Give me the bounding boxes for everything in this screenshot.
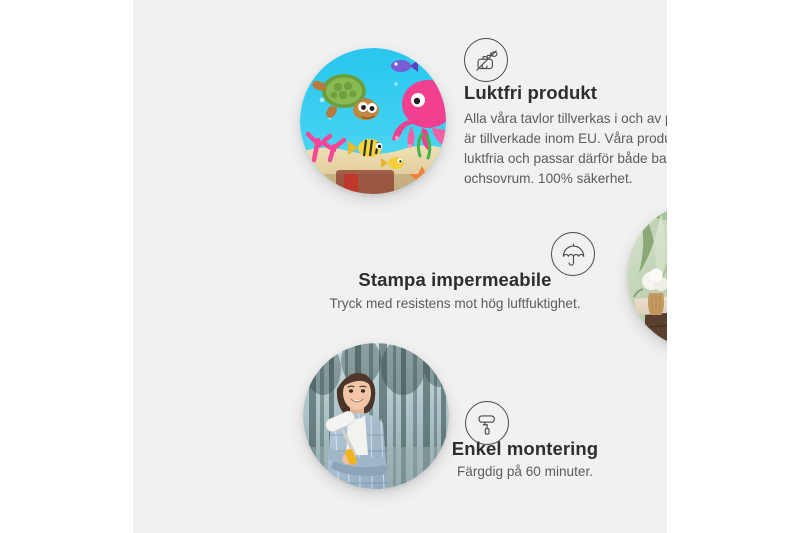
product-feature-banner: Luktfri produkt Alla våra tavlor tillver… bbox=[0, 0, 800, 533]
feature-waterproof-print-title: Stampa impermeabile bbox=[313, 269, 597, 291]
content-canvas: Luktfri produkt Alla våra tavlor tillver… bbox=[133, 0, 667, 533]
feature-easy-mounting-body: Färgdig på 60 minuter. bbox=[395, 464, 655, 479]
feature-easy-mounting-title: Enkel montering bbox=[395, 438, 655, 460]
underwater-sea-life-mural-photo bbox=[300, 48, 446, 194]
bathroom-botanical-wallpaper-photo bbox=[627, 203, 667, 349]
feature-waterproof-print-text: Stampa impermeabile Tryck med resistens … bbox=[313, 269, 597, 311]
no-fragrance-icon bbox=[464, 38, 508, 82]
feature-odour-free-body: Alla våra tavlor tillverkas i och av pro… bbox=[464, 109, 667, 189]
feature-easy-mounting-text: Enkel montering Färgdig på 60 minuter. bbox=[395, 438, 655, 479]
feature-odour-free-text: Luktfri produkt Alla våra tavlor tillver… bbox=[464, 82, 667, 189]
feature-waterproof-print-body: Tryck med resistens mot hög luftfuktighe… bbox=[313, 296, 597, 311]
feature-odour-free-title: Luktfri produkt bbox=[464, 82, 667, 104]
